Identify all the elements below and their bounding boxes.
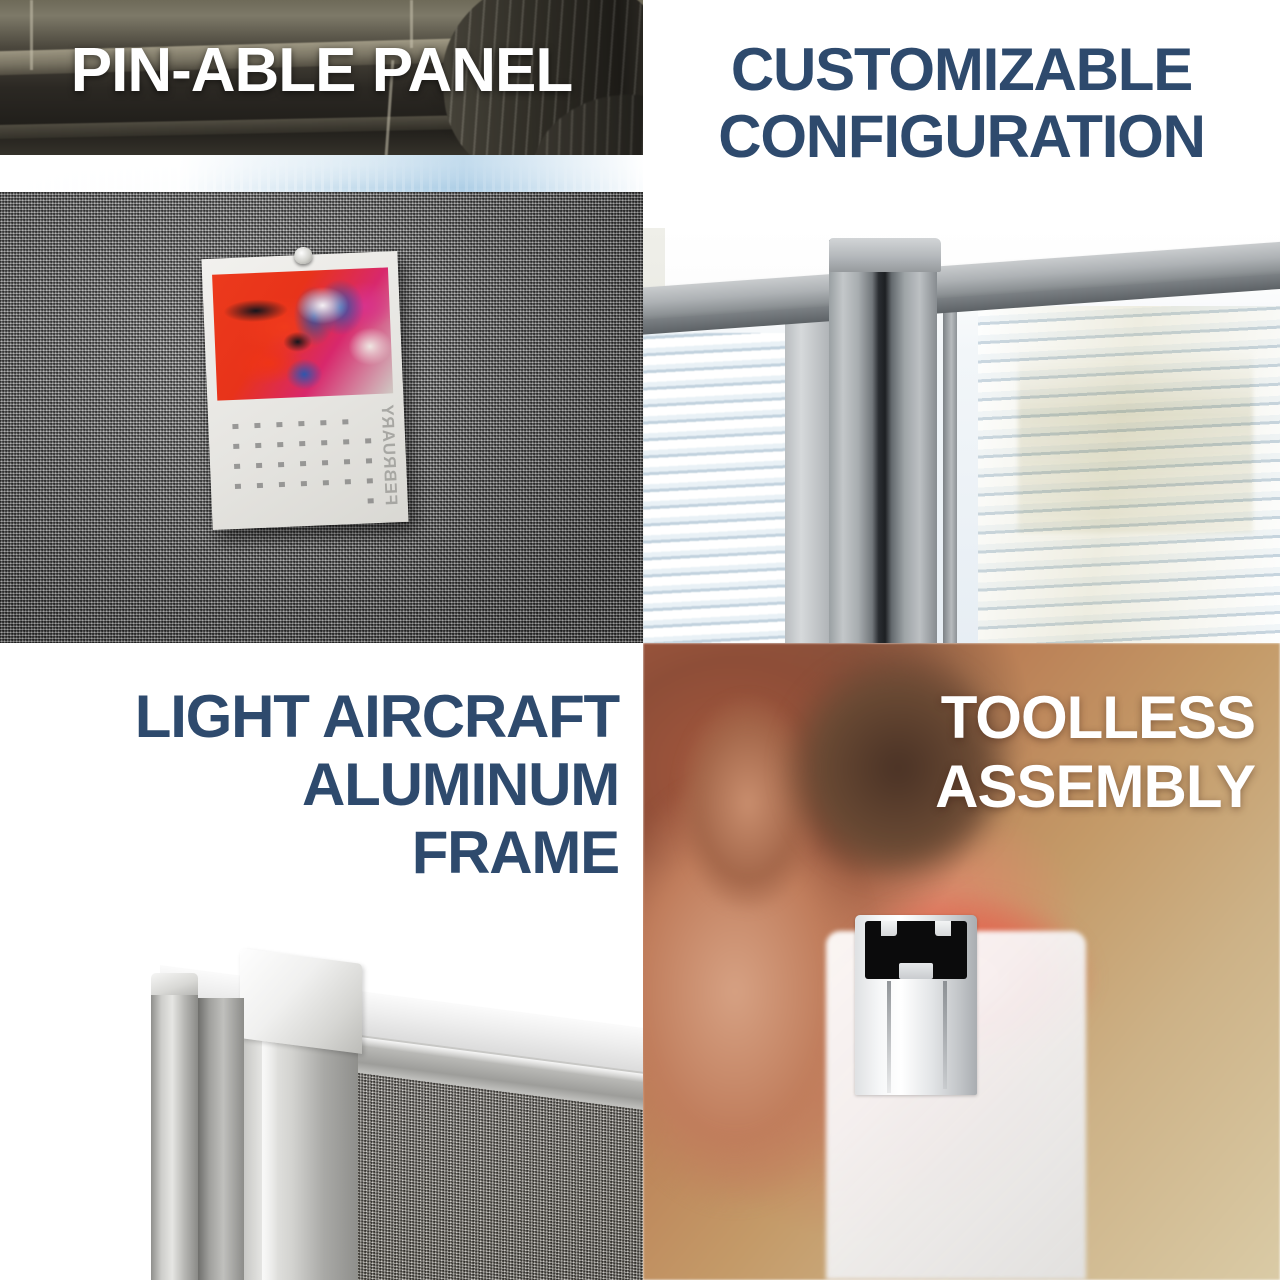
title-line-1: LIGHT AIRCRAFT bbox=[23, 683, 619, 751]
aluminum-post-photo bbox=[643, 228, 1280, 643]
title-line-2: CONFIGURATION bbox=[643, 103, 1280, 170]
panel-title-pin-able-panel: PIN-ABLE PANEL bbox=[0, 35, 643, 106]
glass-panel-edge bbox=[943, 306, 957, 643]
calendar-cell bbox=[342, 419, 348, 424]
frame-post-rear-cap bbox=[151, 973, 198, 995]
frame-mullion bbox=[785, 316, 831, 643]
title-line-1: TOOLLESS bbox=[655, 683, 1255, 752]
calendar-cell bbox=[321, 440, 327, 445]
panel-top-rail bbox=[0, 155, 643, 197]
calendar-cell bbox=[320, 420, 326, 425]
panel-title-toolless-assembly: TOOLLESS ASSEMBLY bbox=[655, 683, 1255, 821]
calendar-cell bbox=[278, 462, 284, 467]
calendar-cell bbox=[322, 460, 328, 465]
calendar-cell bbox=[255, 443, 261, 448]
channel-lip-left bbox=[881, 921, 897, 936]
calendar-cell bbox=[276, 422, 282, 427]
push-pin-icon bbox=[294, 247, 313, 265]
calendar-artwork bbox=[212, 267, 393, 400]
calendar-month-label: FEBRUARY bbox=[377, 403, 401, 506]
panel-toolless-assembly: TOOLLESS ASSEMBLY bbox=[643, 643, 1280, 1280]
calendar-cell bbox=[254, 423, 260, 428]
channel-center-tab bbox=[899, 963, 933, 979]
calendar-cell bbox=[299, 441, 305, 446]
title-line-3: FRAME bbox=[23, 819, 619, 887]
calendar-cell bbox=[279, 482, 285, 487]
corner-post bbox=[829, 240, 937, 643]
feature-collage: FEBRUARY bbox=[0, 0, 1280, 1280]
calendar-cell bbox=[233, 444, 239, 449]
calendar-cell bbox=[235, 484, 241, 489]
calendar-cell bbox=[298, 421, 304, 426]
calendar-cell bbox=[301, 481, 307, 486]
extrusion-groove bbox=[887, 981, 891, 1093]
building-reflection bbox=[1018, 348, 1253, 533]
panel-title-customizable-configuration: CUSTOMIZABLE CONFIGURATION bbox=[643, 36, 1280, 170]
calendar-cell bbox=[234, 464, 240, 469]
calendar-cell bbox=[277, 442, 283, 447]
calendar-cell bbox=[344, 459, 350, 464]
panel-title-light-aircraft-aluminum-frame: LIGHT AIRCRAFT ALUMINUM FRAME bbox=[23, 683, 619, 886]
title-line-2: ALUMINUM bbox=[23, 751, 619, 819]
calendar-cell bbox=[345, 479, 351, 484]
calendar-cell bbox=[300, 461, 306, 466]
corner-post-cap bbox=[829, 238, 941, 272]
frame-post-rear bbox=[151, 983, 198, 1280]
calendar-cell bbox=[257, 483, 263, 488]
pinned-calendar: FEBRUARY bbox=[201, 251, 408, 530]
extrusion-groove bbox=[943, 981, 947, 1089]
title-line-2: ASSEMBLY bbox=[655, 752, 1255, 821]
calendar-cell bbox=[232, 424, 238, 429]
calendar-cell bbox=[367, 478, 373, 483]
panel-customizable-configuration: CUSTOMIZABLE CONFIGURATION bbox=[643, 0, 1280, 643]
panel-pin-able-panel: FEBRUARY bbox=[0, 0, 643, 643]
calendar-cell bbox=[366, 458, 372, 463]
calendar-cell bbox=[323, 480, 329, 485]
channel-lip-right bbox=[935, 921, 951, 936]
panel-light-aircraft-aluminum-frame: LIGHT AIRCRAFT ALUMINUM FRAME bbox=[0, 643, 643, 1280]
calendar-cell bbox=[368, 498, 374, 503]
frame-post-middle bbox=[198, 998, 244, 1280]
calendar-cell bbox=[365, 438, 371, 443]
frame-corner-cap bbox=[240, 948, 362, 1054]
title-line-1: CUSTOMIZABLE bbox=[643, 36, 1280, 103]
calendar-cell bbox=[343, 439, 349, 444]
frame-post-highlight bbox=[262, 1026, 278, 1280]
calendar-cell bbox=[256, 463, 262, 468]
